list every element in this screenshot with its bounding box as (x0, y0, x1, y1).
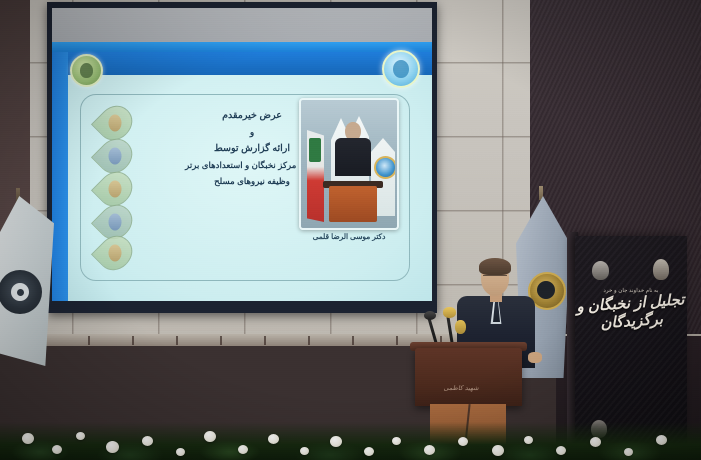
left-flag-spiral-logo-icon (0, 270, 42, 314)
inset-person-body (335, 138, 371, 176)
speaker-hair (479, 258, 511, 275)
slide-photo-caption: دکتر موسی الرضا قلمی (308, 232, 390, 241)
persian-arabesque-ornament-icon (92, 100, 138, 275)
microphone-head-3 (455, 320, 466, 334)
projection-screen-top-band (52, 8, 432, 44)
banner-title: تجلیل از نخبگان و برگزیدگان (574, 290, 688, 334)
slide-inset-photo (299, 98, 399, 230)
podium-caption: شهید کاظمی (430, 384, 492, 392)
projected-slide: عرض خیرمقدم و ارائه گزارش توسط رئیس مرکز… (52, 42, 432, 301)
green-circular-emblem-icon (70, 54, 103, 87)
inset-podium (329, 186, 377, 222)
speaker-glasses-icon (483, 275, 507, 282)
slide-left-accent-bar (52, 52, 68, 301)
blue-circular-emblem-icon (382, 50, 420, 88)
banner-emblem-right-icon (653, 259, 669, 280)
slide-top-accent-bar (52, 42, 432, 52)
banner-emblem-left-icon (592, 261, 609, 280)
podium (415, 348, 522, 406)
microphone-head-2 (443, 307, 456, 318)
speaker-hand (528, 352, 542, 363)
iranian-flag-icon (307, 130, 324, 222)
conference-photo-scene: عرض خیرمقدم و ارائه گزارش توسط رئیس مرکز… (0, 0, 701, 460)
slide-blue-header-band (52, 52, 432, 75)
flower-arrangement (0, 410, 701, 460)
microphone-head-1 (424, 311, 436, 320)
